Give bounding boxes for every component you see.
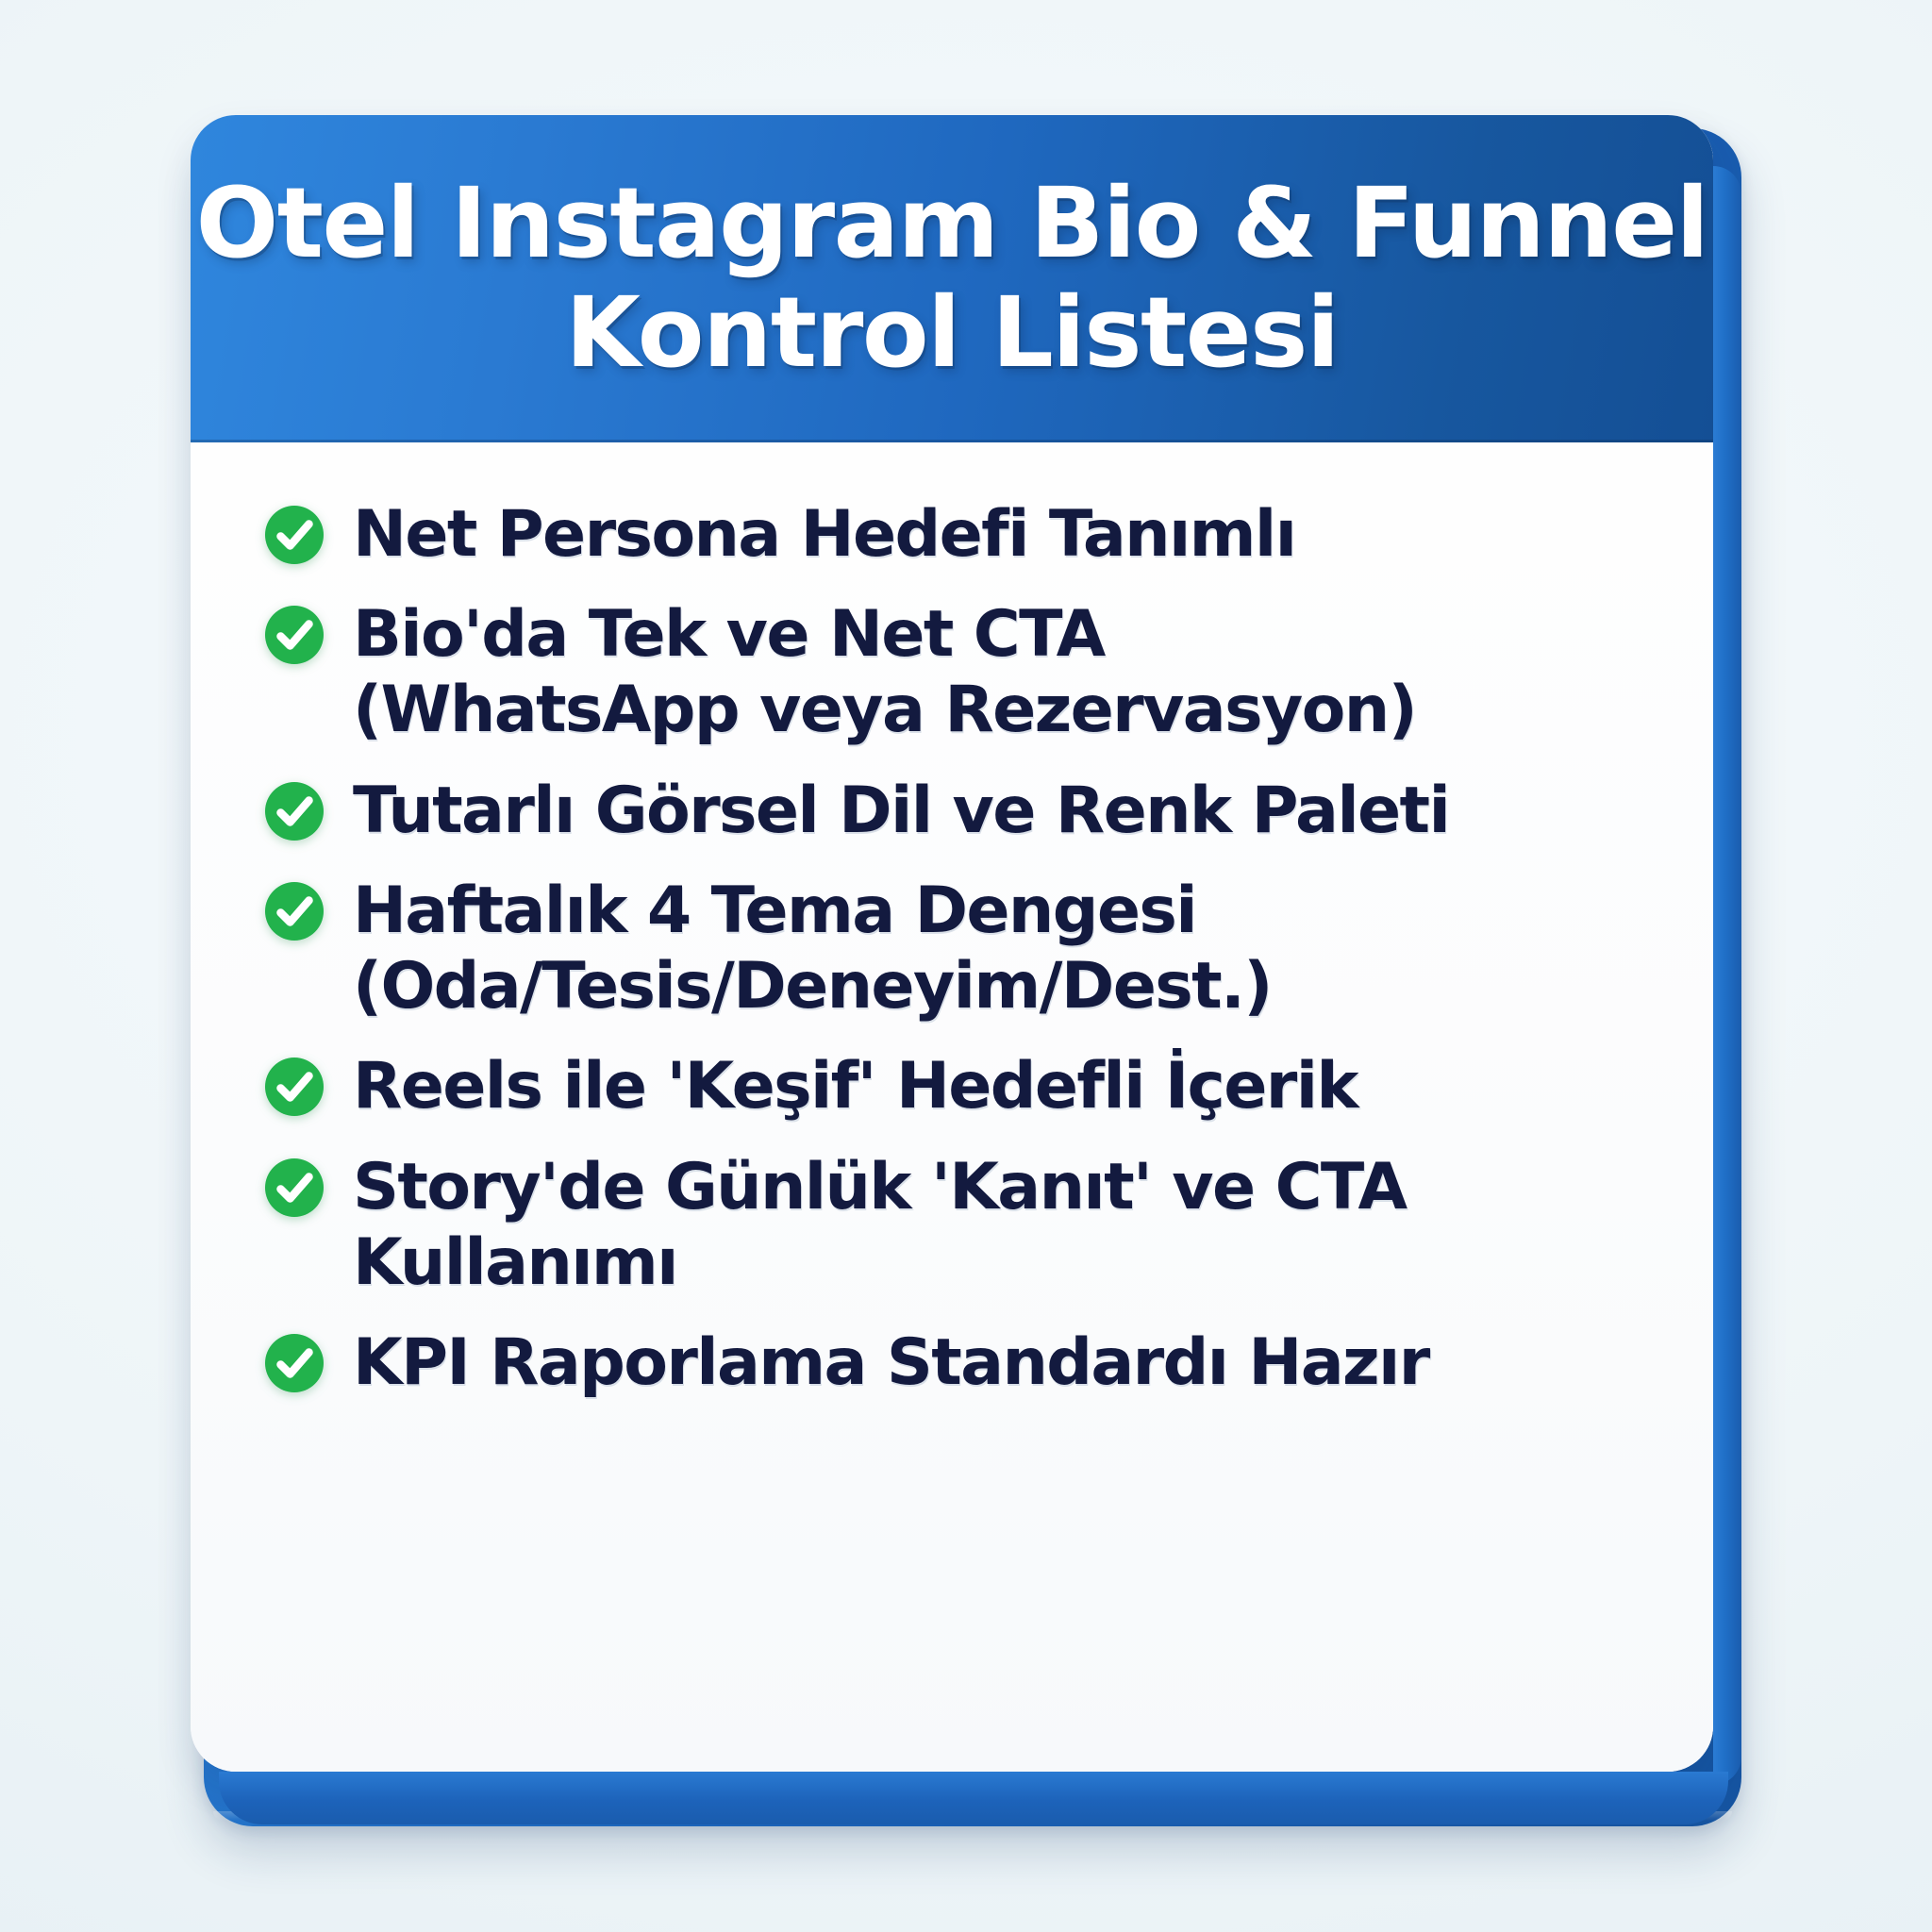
page-title-line-1: Otel Instagram Bio & Funnel bbox=[196, 170, 1708, 278]
check-circle-icon bbox=[262, 1331, 326, 1395]
checklist-item: KPI Raporlama Standardı Hazır bbox=[262, 1325, 1658, 1401]
checklist-item-label: Tutarlı Görsel Dil ve Renk Paleti bbox=[353, 774, 1449, 849]
checklist-item-line: Bio'da Tek ve Net CTA bbox=[353, 597, 1416, 673]
checklist-item-label: Bio'da Tek ve Net CTA(WhatsApp veya Reze… bbox=[353, 597, 1416, 748]
page-title-line-2: Kontrol Listesi bbox=[196, 279, 1708, 388]
check-circle-icon bbox=[262, 603, 326, 667]
checklist-item-label: KPI Raporlama Standardı Hazır bbox=[353, 1325, 1429, 1401]
checklist-item-line: (Oda/Tesis/Deneyim/Dest.) bbox=[353, 949, 1272, 1024]
stage: Otel Instagram Bio & Funnel Kontrol List… bbox=[0, 0, 1932, 1932]
checklist-item: Haftalık 4 Tema Dengesi(Oda/Tesis/Deneyi… bbox=[262, 874, 1658, 1024]
check-circle-icon bbox=[262, 503, 326, 567]
checklist-item-label: Net Persona Hedefi Tanımlı bbox=[353, 497, 1295, 573]
check-circle-icon bbox=[262, 779, 326, 843]
checklist-item: Story'de Günlük 'Kanıt' ve CTAKullanımı bbox=[262, 1150, 1658, 1301]
check-circle-icon bbox=[262, 879, 326, 943]
card-header: Otel Instagram Bio & Funnel Kontrol List… bbox=[191, 115, 1713, 442]
checklist: Net Persona Hedefi TanımlıBio'da Tek ve … bbox=[262, 497, 1658, 1401]
checklist-item-line: Story'de Günlük 'Kanıt' ve CTA bbox=[353, 1150, 1406, 1225]
page-title: Otel Instagram Bio & Funnel Kontrol List… bbox=[196, 170, 1708, 388]
checklist-item-line: Reels ile 'Keşif' Hedefli İçerik bbox=[353, 1049, 1357, 1124]
checklist-item-label: Story'de Günlük 'Kanıt' ve CTAKullanımı bbox=[353, 1150, 1406, 1301]
checklist-item-line: Haftalık 4 Tema Dengesi bbox=[353, 874, 1272, 949]
check-circle-icon bbox=[262, 1055, 326, 1119]
checklist-item: Tutarlı Görsel Dil ve Renk Paleti bbox=[262, 774, 1658, 849]
checklist-item-label: Reels ile 'Keşif' Hedefli İçerik bbox=[353, 1049, 1357, 1124]
checklist-item-line: (WhatsApp veya Rezervasyon) bbox=[353, 673, 1416, 748]
checklist-item: Net Persona Hedefi Tanımlı bbox=[262, 497, 1658, 573]
checklist-item-line: Net Persona Hedefi Tanımlı bbox=[353, 497, 1295, 573]
checklist-item: Reels ile 'Keşif' Hedefli İçerik bbox=[262, 1049, 1658, 1124]
checklist-item-line: Tutarlı Görsel Dil ve Renk Paleti bbox=[353, 774, 1449, 849]
checklist-item: Bio'da Tek ve Net CTA(WhatsApp veya Reze… bbox=[262, 597, 1658, 748]
check-circle-icon bbox=[262, 1156, 326, 1220]
checklist-card: Otel Instagram Bio & Funnel Kontrol List… bbox=[191, 115, 1713, 1772]
card-body: Net Persona Hedefi TanımlıBio'da Tek ve … bbox=[191, 442, 1713, 1772]
checklist-item-label: Haftalık 4 Tema Dengesi(Oda/Tesis/Deneyi… bbox=[353, 874, 1272, 1024]
checklist-item-line: Kullanımı bbox=[353, 1225, 1406, 1301]
checklist-item-line: KPI Raporlama Standardı Hazır bbox=[353, 1325, 1429, 1401]
